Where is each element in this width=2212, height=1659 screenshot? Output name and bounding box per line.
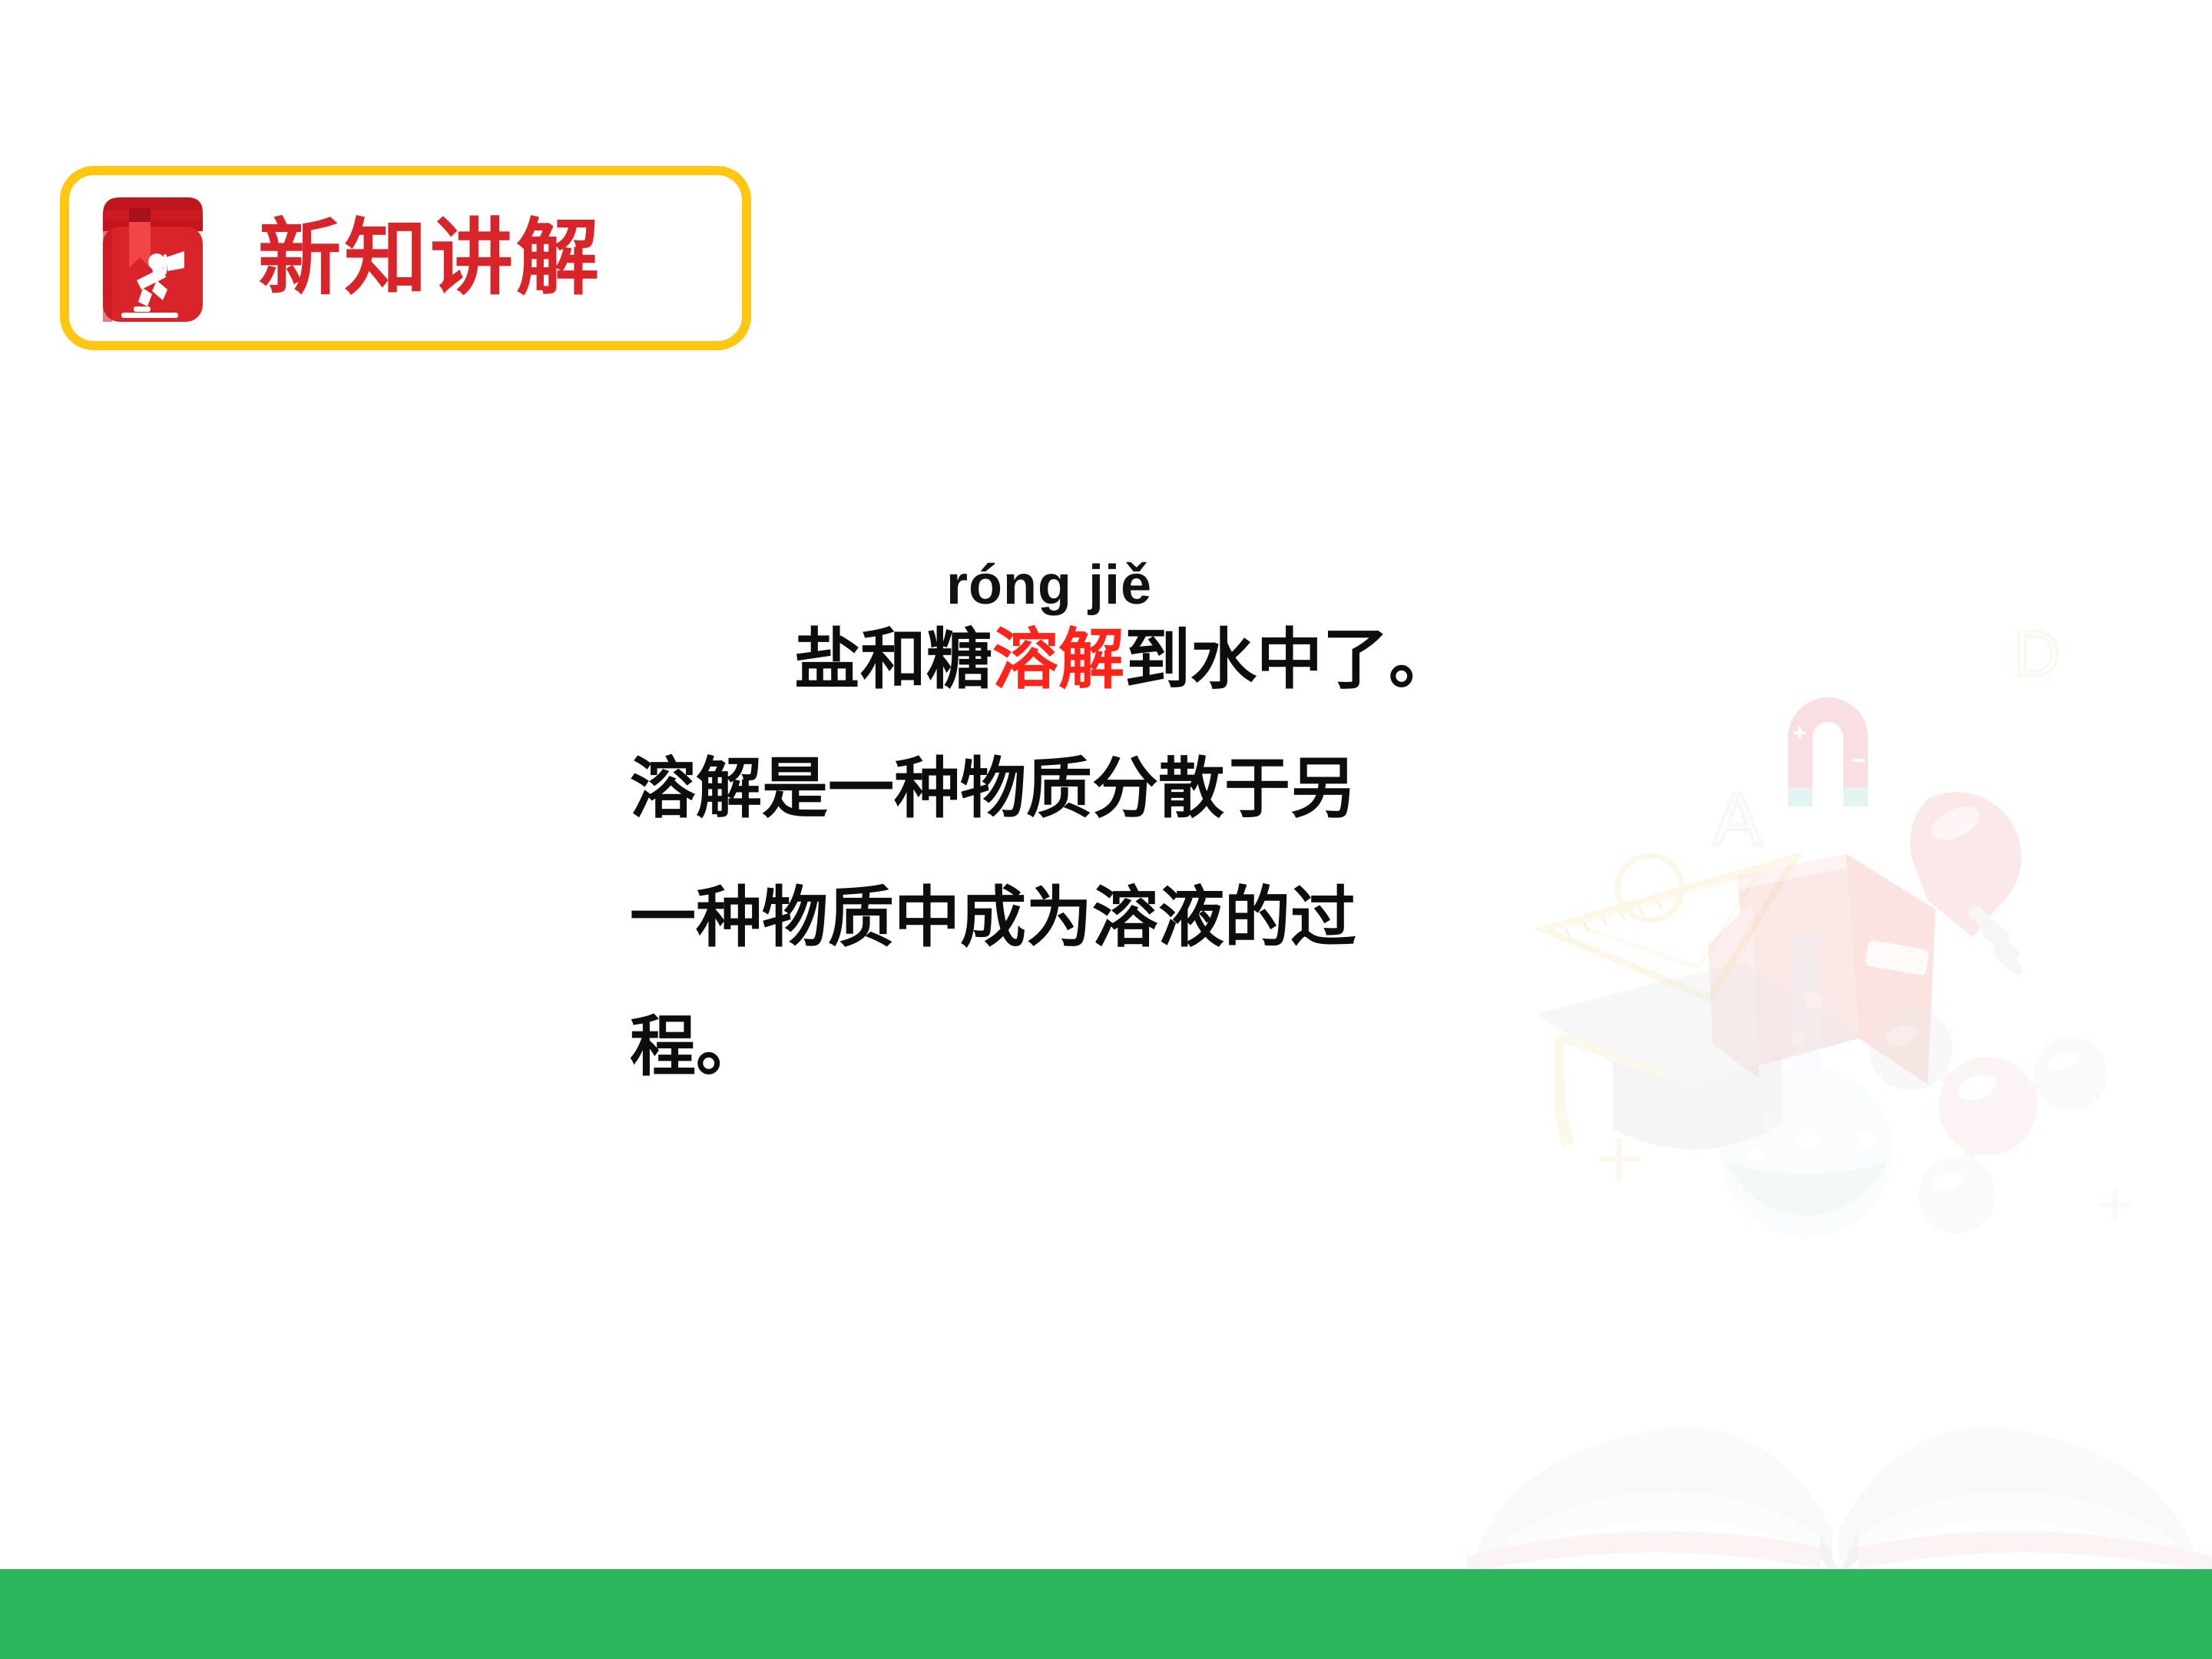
letter-d-icon: D <box>2014 618 2061 690</box>
text-line-2: 溶解是一种物质分散于另 <box>630 756 1536 822</box>
triangle-ruler-icon <box>1544 856 1796 998</box>
letter-a-icon: A <box>1713 779 1762 861</box>
graduation-cap-icon <box>1536 962 1866 1150</box>
magnet-icon <box>1788 697 1868 806</box>
text-line-3: 一种物质中成为溶液的过 <box>630 885 1536 951</box>
text-line-1: 盐和糖溶解到水中了。 <box>794 627 1536 693</box>
lightbulb-icon <box>1910 792 2025 977</box>
content-text-block: róng jiě 盐和糖溶解到水中了。 溶解是一种物质分散于另 一种物质中成为溶… <box>630 558 1536 1080</box>
page-title: 新知讲解 <box>258 217 602 300</box>
svg-text:A: A <box>1713 779 1762 861</box>
slide-canvas: 新知讲解 D A <box>0 0 2212 1659</box>
molecule-icon <box>1869 1008 2108 1233</box>
plus-sign-icon <box>1599 1138 1640 1180</box>
text-line-2-before: 溶解是一种物质分散于另 <box>630 752 1356 826</box>
text-line-4-before: 程。 <box>630 1010 762 1084</box>
text-line-1-highlight: 溶解 <box>992 623 1124 697</box>
bottom-accent-bar <box>0 1569 2212 1659</box>
text-line-3-before: 一种物质中成为溶液的过 <box>630 881 1356 955</box>
text-line-1-after: 到水中了。 <box>1124 623 1455 697</box>
pinyin-annotation: róng jiě <box>946 558 1536 613</box>
plus-sign-icon <box>2099 1189 2132 1221</box>
text-line-4: 程。 <box>630 1014 1536 1080</box>
svg-text:D: D <box>2014 618 2061 690</box>
book-runner-icon <box>86 191 212 328</box>
text-line-1-before: 盐和糖 <box>794 623 992 697</box>
open-book-watermark <box>1459 1329 2212 1582</box>
header-badge: 新知讲解 <box>60 166 751 350</box>
flask-icon <box>1720 935 1892 1238</box>
open-book-icon <box>1708 854 1936 1084</box>
science-decoration-cluster: D A <box>1528 614 2212 1252</box>
